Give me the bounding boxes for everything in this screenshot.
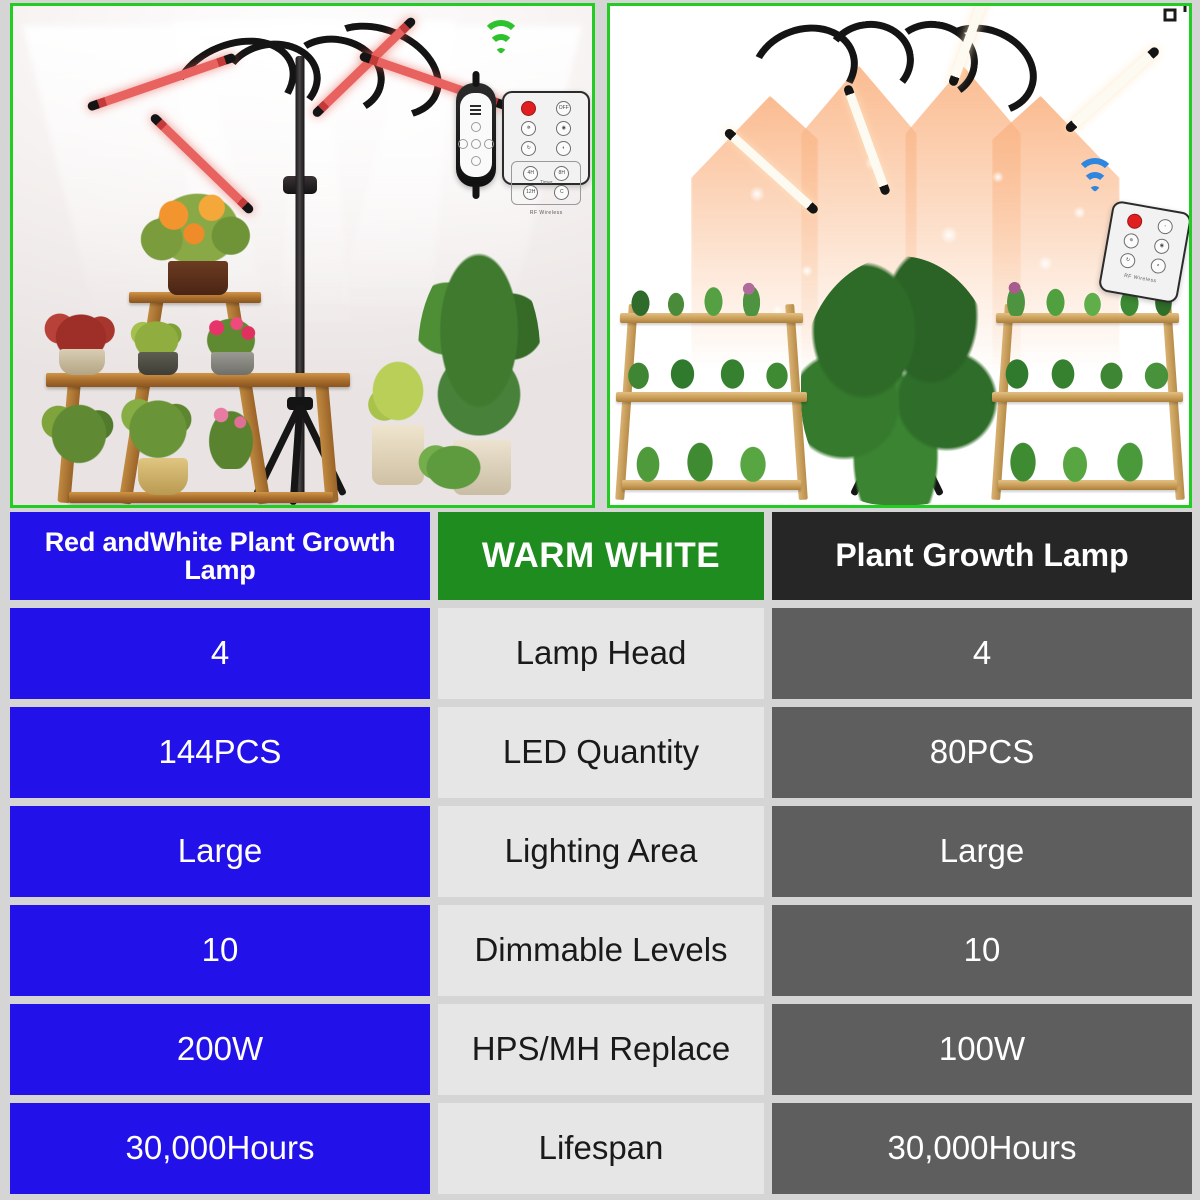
cell-feature-label: LED Quantity: [438, 707, 764, 798]
table-header-row: Red andWhite Plant Growth Lamp WARM WHIT…: [10, 512, 1192, 600]
inline-dimmer-controller[interactable]: [456, 83, 496, 187]
remote-cycle-button[interactable]: ↻: [521, 141, 536, 156]
warm-white-lamp-scene: ◦ ✵ ◉ ↻ ◐ RF Wireless: [610, 6, 1189, 505]
plant-pot: [168, 261, 227, 295]
herb-plant: [115, 386, 201, 469]
leafy-plant: [1000, 352, 1034, 393]
remote-dim-button[interactable]: ◉: [1153, 237, 1170, 254]
light-sparkle: [992, 171, 1004, 183]
stand-shelf: [69, 492, 333, 503]
controller-power-button[interactable]: [471, 122, 481, 132]
grass-plant: [1004, 433, 1042, 486]
remote-timer-label: Timer: [540, 180, 553, 186]
remote-off-button[interactable]: OFF: [556, 101, 571, 116]
cell-right-value: 30,000Hours: [772, 1103, 1192, 1194]
remote-power-on-button[interactable]: [1126, 212, 1143, 229]
trailing-succulent: [360, 355, 435, 435]
warm-white-led-tube: [1064, 46, 1160, 134]
controller-indicator-dots: [470, 105, 481, 115]
remote-mode-row[interactable]: ↻ ◐: [511, 141, 581, 156]
succulent-plant: [664, 287, 689, 316]
power-cord: [472, 183, 479, 199]
pink-bloom-plant: [198, 396, 264, 469]
leafy-plant: [1139, 356, 1173, 392]
shelf-tier: [992, 392, 1183, 402]
broadleaf-plant: [413, 435, 494, 500]
stand-leg: [314, 372, 338, 502]
leafy-plant: [1095, 356, 1127, 392]
cell-feature-label: HPS/MH Replace: [438, 1004, 764, 1095]
cell-left-value: 4: [10, 608, 430, 699]
left-product-photo[interactable]: OFF ✵ ◉ ↻ ◐ Timer 4H 8H: [10, 3, 595, 508]
table-row: 30,000Hours Lifespan 30,000Hours: [10, 1103, 1192, 1194]
remote-brightness-row[interactable]: ✵ ◉: [511, 121, 581, 136]
light-sparkle: [1073, 206, 1086, 219]
grass-plant: [1111, 433, 1149, 486]
rf-remote-control[interactable]: ◦ ✵ ◉ ↻ ◐ RF Wireless: [1098, 199, 1192, 303]
cell-right-value: 100W: [772, 1004, 1192, 1095]
remote-auto-button[interactable]: ◐: [556, 141, 571, 156]
cell-feature-label: Lighting Area: [438, 806, 764, 897]
cell-left-value: 200W: [10, 1004, 430, 1095]
remote-sun-button[interactable]: ✵: [1123, 232, 1140, 249]
grass-plant: [681, 433, 719, 486]
remote-timer-8h-button[interactable]: 8H: [554, 166, 569, 181]
remote-off-button[interactable]: ◦: [1157, 218, 1174, 235]
leafy-plant: [623, 356, 654, 392]
plant-pot: [138, 352, 178, 375]
remote-timer-cancel-button[interactable]: C: [554, 185, 569, 200]
red-white-lamp-scene: OFF ✵ ◉ ↻ ◐ Timer 4H 8H: [13, 6, 592, 505]
tall-tree-plant: [418, 251, 540, 451]
orange-flower-foliage: [138, 178, 257, 271]
leafy-plant: [761, 356, 793, 392]
cell-right-value: 4: [772, 608, 1192, 699]
succulent-plant: [1042, 282, 1069, 316]
grass-plant: [631, 438, 665, 486]
spec-comparison-table: Red andWhite Plant Growth Lamp WARM WHIT…: [0, 512, 1200, 1200]
cell-right-value: 10: [772, 905, 1192, 996]
cell-left-value: 144PCS: [10, 707, 430, 798]
green-bush-plant: [39, 391, 118, 469]
light-sparkle: [940, 226, 958, 244]
succulent-plant: [700, 280, 727, 316]
expand-image-icon[interactable]: [1157, 3, 1187, 30]
table-row: Large Lighting Area Large: [10, 806, 1192, 897]
leafy-plant: [665, 352, 699, 393]
cell-feature-label: Lamp Head: [438, 608, 764, 699]
header-feature-title: WARM WHITE: [438, 512, 764, 600]
remote-auto-button[interactable]: ◐: [1150, 257, 1167, 274]
cell-right-value: 80PCS: [772, 707, 1192, 798]
right-product-photo[interactable]: ◦ ✵ ◉ ↻ ◐ RF Wireless: [607, 3, 1192, 508]
cell-right-value: Large: [772, 806, 1192, 897]
grass-plant: [734, 438, 772, 486]
light-sparkle: [749, 186, 765, 202]
wooden-plant-stand: [36, 246, 366, 505]
grass-plant: [1057, 438, 1093, 486]
remote-brand-label: RF Wireless: [511, 210, 581, 216]
remote-timer-12h-button[interactable]: 12H: [523, 185, 538, 200]
controller-timer-button[interactable]: [471, 156, 481, 166]
succulent-plant: [627, 284, 654, 315]
monstera-plant: [801, 256, 998, 506]
product-comparison-infographic: OFF ✵ ◉ ↻ ◐ Timer 4H 8H: [0, 0, 1200, 1200]
plant-pot: [211, 352, 254, 375]
leafy-plant: [715, 352, 749, 393]
cell-left-value: 30,000Hours: [10, 1103, 430, 1194]
remote-sun-button[interactable]: ✵: [521, 121, 536, 136]
plant-pot: [138, 458, 188, 494]
flowering-succulent: [1002, 277, 1031, 315]
succulent-plant: [1080, 287, 1105, 316]
shelf-tier: [616, 392, 807, 402]
flowering-succulent: [738, 277, 765, 315]
table-row: 144PCS LED Quantity 80PCS: [10, 707, 1192, 798]
plant-pot: [59, 349, 105, 375]
cell-left-value: 10: [10, 905, 430, 996]
header-left-product: Red andWhite Plant Growth Lamp: [10, 512, 430, 600]
controller-mode-buttons[interactable]: [458, 139, 494, 149]
tiered-plant-shelf-left: [616, 261, 807, 501]
cell-feature-label: Dimmable Levels: [438, 905, 764, 996]
remote-cycle-button[interactable]: ↻: [1119, 252, 1136, 269]
table-row: 10 Dimmable Levels 10: [10, 905, 1192, 996]
cell-feature-label: Lifespan: [438, 1103, 764, 1194]
remote-dim-button[interactable]: ◉: [556, 121, 571, 136]
wifi-signal-icon: [479, 28, 523, 60]
power-cord: [472, 71, 479, 87]
leafy-plant: [1046, 352, 1080, 393]
remote-timer-panel[interactable]: Timer 4H 8H 12H C: [511, 161, 581, 205]
table-row: 200W HPS/MH Replace 100W: [10, 1004, 1192, 1095]
remote-power-on-button[interactable]: [521, 101, 536, 116]
table-row: 4 Lamp Head 4: [10, 608, 1192, 699]
controller-face: [460, 93, 492, 177]
header-right-product: Plant Growth Lamp: [772, 512, 1192, 600]
wifi-signal-icon: [1073, 166, 1117, 198]
rf-remote-control[interactable]: OFF ✵ ◉ ↻ ◐ Timer 4H 8H: [502, 91, 590, 185]
remote-power-row[interactable]: OFF: [511, 101, 581, 116]
cell-left-value: Large: [10, 806, 430, 897]
product-photo-strip: OFF ✵ ◉ ↻ ◐ Timer 4H 8H: [0, 0, 1200, 512]
remote-timer-4h-button[interactable]: 4H: [523, 166, 538, 181]
